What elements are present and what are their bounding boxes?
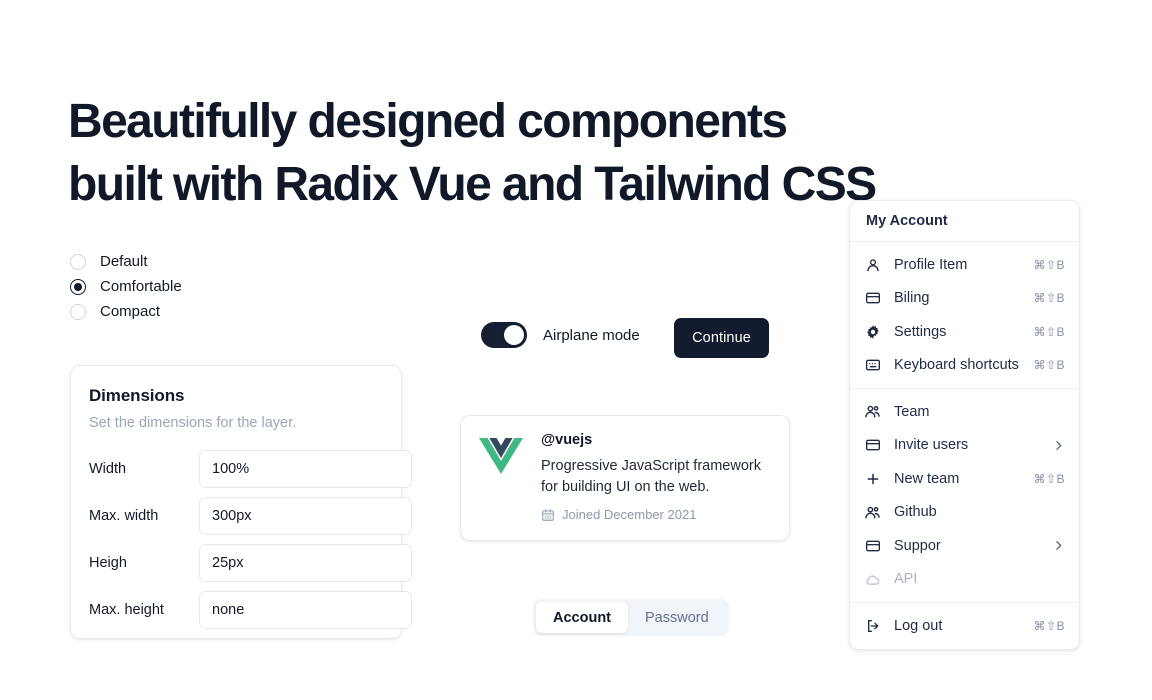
- field-label-height: Heigh: [89, 555, 199, 571]
- menu-item-billing[interactable]: Biling ⌘⇧B: [850, 282, 1079, 316]
- field-row-width: Width: [89, 450, 383, 488]
- hover-card-meta-text: Joined December 2021: [562, 507, 696, 522]
- menu-group-session: Log out ⌘⇧B: [850, 603, 1079, 649]
- logout-icon: [864, 617, 881, 634]
- users-icon: [864, 504, 881, 521]
- hover-card-handle: @vuejs: [541, 432, 771, 448]
- radio-option-compact[interactable]: Compact: [70, 299, 182, 324]
- switch-knob: [504, 325, 524, 345]
- menu-item-shortcut-keyboard-shortcuts: ⌘⇧B: [1033, 358, 1065, 372]
- vuejs-hover-card: @vuejs Progressive JavaScript framework …: [460, 415, 790, 541]
- field-input-max-width[interactable]: [199, 497, 412, 535]
- menu-item-label-api: API: [894, 571, 1065, 587]
- dimensions-card: Dimensions Set the dimensions for the la…: [70, 365, 402, 639]
- radio-icon-comfortable-selected[interactable]: [70, 279, 86, 295]
- settings-tabs[interactable]: Account Password: [533, 599, 729, 636]
- menu-item-label-log-out: Log out: [894, 618, 1033, 634]
- menu-item-label-profile: Profile Item: [894, 257, 1033, 273]
- menu-item-shortcut-profile: ⌘⇧B: [1033, 258, 1065, 272]
- radio-label-comfortable: Comfortable: [100, 278, 182, 295]
- keyboard-icon: [864, 357, 881, 374]
- menu-item-invite-users[interactable]: Invite users: [850, 429, 1079, 463]
- page-title-line-1: Beautifully designed components: [68, 95, 787, 148]
- field-label-max-width: Max. width: [89, 508, 199, 524]
- hover-card-body: @vuejs Progressive JavaScript framework …: [541, 432, 771, 524]
- user-icon: [864, 256, 881, 273]
- radio-icon-compact[interactable]: [70, 304, 86, 320]
- field-row-height: Heigh: [89, 544, 383, 582]
- menu-item-label-keyboard-shortcuts: Keyboard shortcuts: [894, 357, 1033, 373]
- hover-card-description: Progressive JavaScript framework for bui…: [541, 456, 771, 498]
- field-input-height[interactable]: [199, 544, 412, 582]
- menu-item-label-settings: Settings: [894, 324, 1033, 340]
- gear-icon: [864, 323, 881, 340]
- cloud-icon: [864, 571, 881, 588]
- users-icon: [864, 403, 881, 420]
- menu-group-team: Team Invite users New team ⌘⇧B: [850, 389, 1079, 602]
- field-label-max-height: Max. height: [89, 602, 199, 618]
- menu-item-profile[interactable]: Profile Item ⌘⇧B: [850, 248, 1079, 282]
- credit-card-icon: [864, 537, 881, 554]
- radio-label-default: Default: [100, 253, 148, 270]
- chevron-right-icon: [1052, 439, 1065, 452]
- calendar-icon: [541, 508, 555, 522]
- dimensions-fields: Width Max. width Heigh Max. height: [89, 450, 383, 629]
- field-input-width[interactable]: [199, 450, 412, 488]
- airplane-mode-switch[interactable]: [481, 322, 527, 348]
- menu-item-label-invite-users: Invite users: [894, 437, 1052, 453]
- menu-item-label-github: Github: [894, 504, 1065, 520]
- tab-password[interactable]: Password: [628, 602, 726, 633]
- menu-item-support[interactable]: Suppor: [850, 529, 1079, 563]
- chevron-right-icon: [1052, 539, 1065, 552]
- vue-logo-icon: [479, 436, 523, 480]
- menu-item-label-team: Team: [894, 404, 1065, 420]
- airplane-mode-label: Airplane mode: [543, 327, 640, 344]
- menu-item-new-team[interactable]: New team ⌘⇧B: [850, 462, 1079, 496]
- dimensions-title: Dimensions: [89, 386, 383, 406]
- menu-item-settings[interactable]: Settings ⌘⇧B: [850, 315, 1079, 349]
- airplane-mode-row[interactable]: Airplane mode: [481, 322, 640, 348]
- dimensions-subtitle: Set the dimensions for the layer.: [89, 415, 383, 431]
- menu-item-shortcut-new-team: ⌘⇧B: [1033, 472, 1065, 486]
- credit-card-icon: [864, 290, 881, 307]
- menu-group-account: Profile Item ⌘⇧B Biling ⌘⇧B: [850, 242, 1079, 388]
- menu-item-keyboard-shortcuts[interactable]: Keyboard shortcuts ⌘⇧B: [850, 349, 1079, 383]
- hover-card-meta: Joined December 2021: [541, 507, 771, 522]
- credit-card-icon: [864, 437, 881, 454]
- menu-item-log-out[interactable]: Log out ⌘⇧B: [850, 609, 1079, 643]
- radio-option-comfortable[interactable]: Comfortable: [70, 274, 182, 299]
- menu-item-shortcut-log-out: ⌘⇧B: [1033, 619, 1065, 633]
- density-radio-group[interactable]: Default Comfortable Compact: [70, 249, 182, 324]
- tab-account[interactable]: Account: [536, 602, 628, 633]
- field-label-width: Width: [89, 461, 199, 477]
- menu-item-label-new-team: New team: [894, 471, 1033, 487]
- menu-item-github[interactable]: Github: [850, 496, 1079, 530]
- menu-item-team[interactable]: Team: [850, 395, 1079, 429]
- menu-item-label-support: Suppor: [894, 538, 1052, 554]
- field-row-max-height: Max. height: [89, 591, 383, 629]
- my-account-menu: My Account Profile Item ⌘⇧B Biling: [849, 200, 1080, 650]
- field-row-max-width: Max. width: [89, 497, 383, 535]
- menu-item-shortcut-billing: ⌘⇧B: [1033, 291, 1065, 305]
- radio-option-default[interactable]: Default: [70, 249, 182, 274]
- plus-icon: [864, 470, 881, 487]
- radio-icon-default[interactable]: [70, 254, 86, 270]
- page-root: Beautifully designed components built wi…: [0, 0, 1152, 700]
- menu-item-api: API: [850, 563, 1079, 597]
- field-input-max-height[interactable]: [199, 591, 412, 629]
- menu-item-label-billing: Biling: [894, 290, 1033, 306]
- page-title: Beautifully designed components built wi…: [68, 90, 1028, 216]
- menu-item-shortcut-settings: ⌘⇧B: [1033, 325, 1065, 339]
- menu-label: My Account: [850, 201, 1079, 241]
- radio-label-compact: Compact: [100, 303, 160, 320]
- continue-button[interactable]: Continue: [674, 318, 769, 358]
